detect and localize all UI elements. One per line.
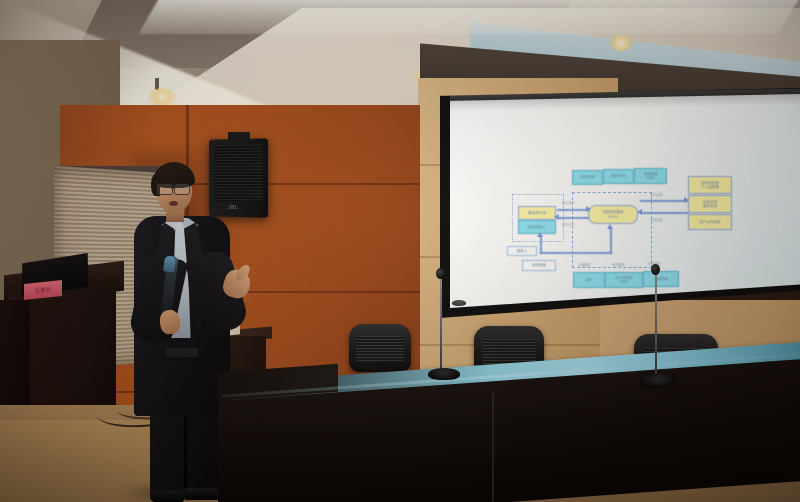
diagram-arrowhead-up-2 — [537, 232, 543, 237]
chair[interactable] — [349, 324, 411, 372]
presenter-belt — [166, 348, 198, 357]
gooseneck-microphone-base — [428, 368, 460, 380]
diagram-box-top-3: 资金保管 机构 — [634, 168, 667, 184]
presenter-mouth — [169, 201, 178, 206]
diagram-label-5: 法律服务 — [578, 262, 591, 267]
diagram-arrow-right-2 — [640, 200, 688, 202]
diagram-box-bottom-3: 评级机构 — [643, 271, 679, 287]
diagram-box-right-2: 证券承销 服务机构 — [688, 195, 732, 213]
gooseneck-microphone-stem — [440, 276, 442, 370]
diagram-box-center-spv: 特殊目的载体 (SPV) — [588, 205, 638, 224]
diagram-arrow-up-1 — [610, 228, 612, 254]
diagram-center-group — [572, 192, 652, 268]
diagram-label-3: 发行证券 — [650, 192, 663, 197]
diagram-box-bottom-1: 律所 — [573, 272, 605, 288]
presentation-photo-scene: JBL 证券化公式 一般的说， 资产证券化是指 将缺乏流动性的资产 转化为可以在… — [0, 0, 800, 502]
diagram-box-right-1: 机构投资者 个人投资者 — [688, 176, 732, 194]
diagram-box-left-4: 信用增级 — [522, 260, 556, 271]
diagram-arrow-h-bottom — [540, 252, 612, 254]
diagram-label-6: 会计服务 — [612, 262, 625, 267]
presenter-shoe-right — [184, 488, 222, 500]
diagram-arrowhead-left-1 — [554, 214, 559, 220]
microphone-base-far — [452, 300, 466, 306]
gooseneck-microphone-stem — [655, 272, 657, 376]
diagram-arrowhead-up-1 — [607, 224, 613, 229]
diagram-box-left-1: 基础资产池 — [518, 206, 556, 220]
diagram-label-4: 认购资金 — [650, 217, 663, 222]
diagram-box-top-2: 受托机构 — [603, 169, 634, 184]
diagram-label-1: 转让资产 — [562, 200, 575, 205]
chair-mesh — [356, 336, 403, 363]
diagram-box-right-3: 资产支持证券 — [688, 214, 732, 230]
gooseneck-microphone-icon[interactable] — [436, 268, 445, 279]
presenter-leg-split — [184, 416, 187, 496]
podium-sign-label: 主席台 — [35, 286, 52, 295]
diagram-box-left-3: 借款人 — [507, 246, 537, 256]
gooseneck-microphone-icon[interactable] — [651, 264, 660, 275]
downlight-icon — [608, 35, 634, 51]
diagram-arrowhead-left-2 — [637, 209, 642, 215]
gooseneck-microphone-base — [640, 374, 676, 388]
projection-screen[interactable]: 证券化公式 一般的说， 资产证券化是指 将缺乏流动性的资产 转化为可以在金融市场… — [450, 94, 800, 308]
diagram-box-top-1: 发起机构 — [572, 170, 603, 185]
diagram-box-bottom-2: 会计师事务 所所 — [605, 272, 643, 288]
downlight-icon — [148, 88, 176, 106]
presenter-shoe-left — [150, 490, 184, 502]
conference-table-seam — [492, 392, 494, 502]
microphone-head — [163, 255, 176, 272]
glasses-icon — [157, 184, 173, 195]
diagram-label-2: 支付对价 — [562, 222, 575, 227]
diagram-arrowhead-right-2 — [684, 197, 689, 203]
diagram-arrowhead-right-1 — [586, 206, 591, 212]
diagram-arrow-right-1 — [557, 209, 589, 211]
glasses-bridge — [171, 188, 174, 189]
diagram-arrow-up-2 — [540, 236, 542, 254]
diagram-arrow-left-1 — [557, 217, 589, 219]
diagram-arrow-left-2 — [640, 212, 688, 214]
cove-light-strip-icon — [138, 0, 800, 34]
glasses-icon-right — [174, 184, 190, 195]
